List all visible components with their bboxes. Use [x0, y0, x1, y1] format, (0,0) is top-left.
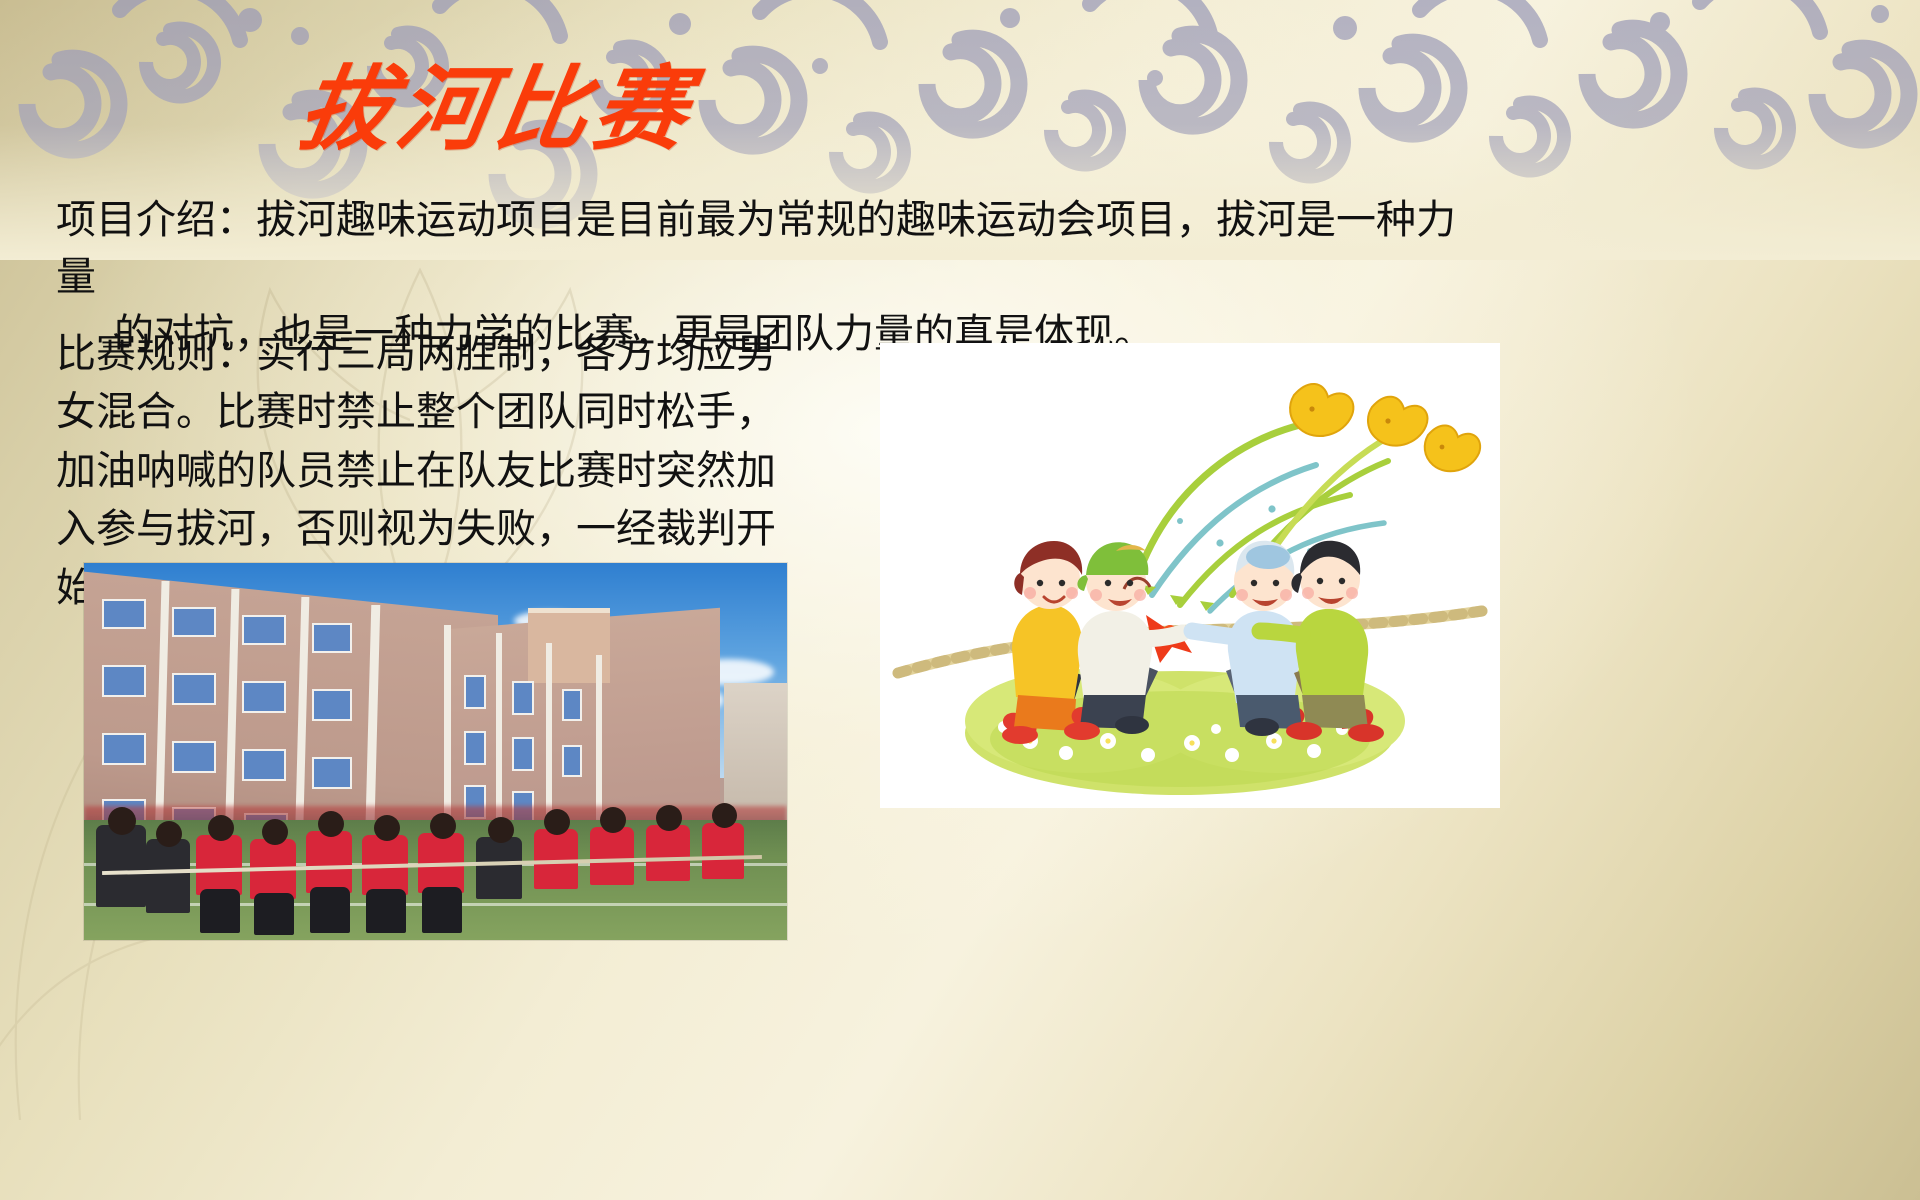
photo-window: [312, 623, 352, 653]
photo-participant: [208, 815, 234, 841]
photo-participant: [262, 819, 288, 845]
photo-window: [464, 731, 486, 765]
photo-window: [172, 607, 216, 637]
photo-window: [312, 757, 352, 789]
photo-window: [562, 745, 582, 777]
presentation-slide: 拔河比赛 项目介绍：拔河趣味运动项目是目前最为常规的趣味运动会项目，拔河是一种力…: [0, 0, 1920, 1200]
photo-participant: [196, 835, 242, 895]
photo-participant: [590, 827, 634, 885]
page-title: 拔河比赛: [292, 62, 699, 159]
photo-participant: [156, 821, 182, 847]
photo-window: [512, 681, 534, 715]
photo-participant: [374, 815, 400, 841]
rules-line-1: 比赛规则：实行三局两胜制，各方均应男: [56, 325, 816, 383]
photo-participant: [422, 887, 462, 933]
photo-participant: [96, 825, 146, 907]
photo-participant: [600, 807, 626, 833]
photo-participant: [146, 839, 190, 913]
photo-participant: [712, 803, 737, 828]
photo-participant: [310, 887, 350, 933]
photo-participant: [430, 813, 456, 839]
photo-participant: [318, 811, 344, 837]
photo-participant: [200, 889, 240, 933]
photo-window: [102, 665, 146, 697]
photo-window: [242, 681, 286, 713]
photo-window: [312, 689, 352, 721]
photo-participant: [108, 807, 136, 835]
photo-participant: [306, 831, 352, 893]
photo-window: [242, 749, 286, 781]
rules-line-3: 加油呐喊的队员禁止在队友比赛时突然加: [56, 442, 816, 500]
photo-participant: [646, 825, 690, 881]
photo-participant: [366, 889, 406, 933]
photo-participant: [254, 893, 294, 935]
intro-line-1: 项目介绍：拔河趣味运动项目是目前最为常规的趣味运动会项目，拔河是一种力量: [56, 197, 1456, 299]
photo-participant: [488, 817, 514, 843]
photo-window: [512, 737, 534, 771]
rules-line-2: 女混合。比赛时禁止整个团队同时松手，: [56, 383, 816, 441]
photo-window: [102, 733, 146, 765]
photo-participant: [702, 823, 744, 879]
school-tug-of-war-photo: [84, 563, 787, 940]
photo-window: [242, 615, 286, 645]
cartoon-tug-of-war-illustration: [880, 343, 1500, 808]
photo-window: [562, 689, 582, 721]
photo-participant: [544, 809, 570, 835]
rules-line-4: 入参与拔河，否则视为失败，一经裁判开: [56, 500, 816, 558]
photo-window: [172, 741, 216, 773]
photo-window: [172, 673, 216, 705]
photo-participant: [656, 805, 682, 831]
photo-window: [102, 599, 146, 629]
photo-window: [464, 675, 486, 709]
photo-participant: [476, 837, 522, 899]
